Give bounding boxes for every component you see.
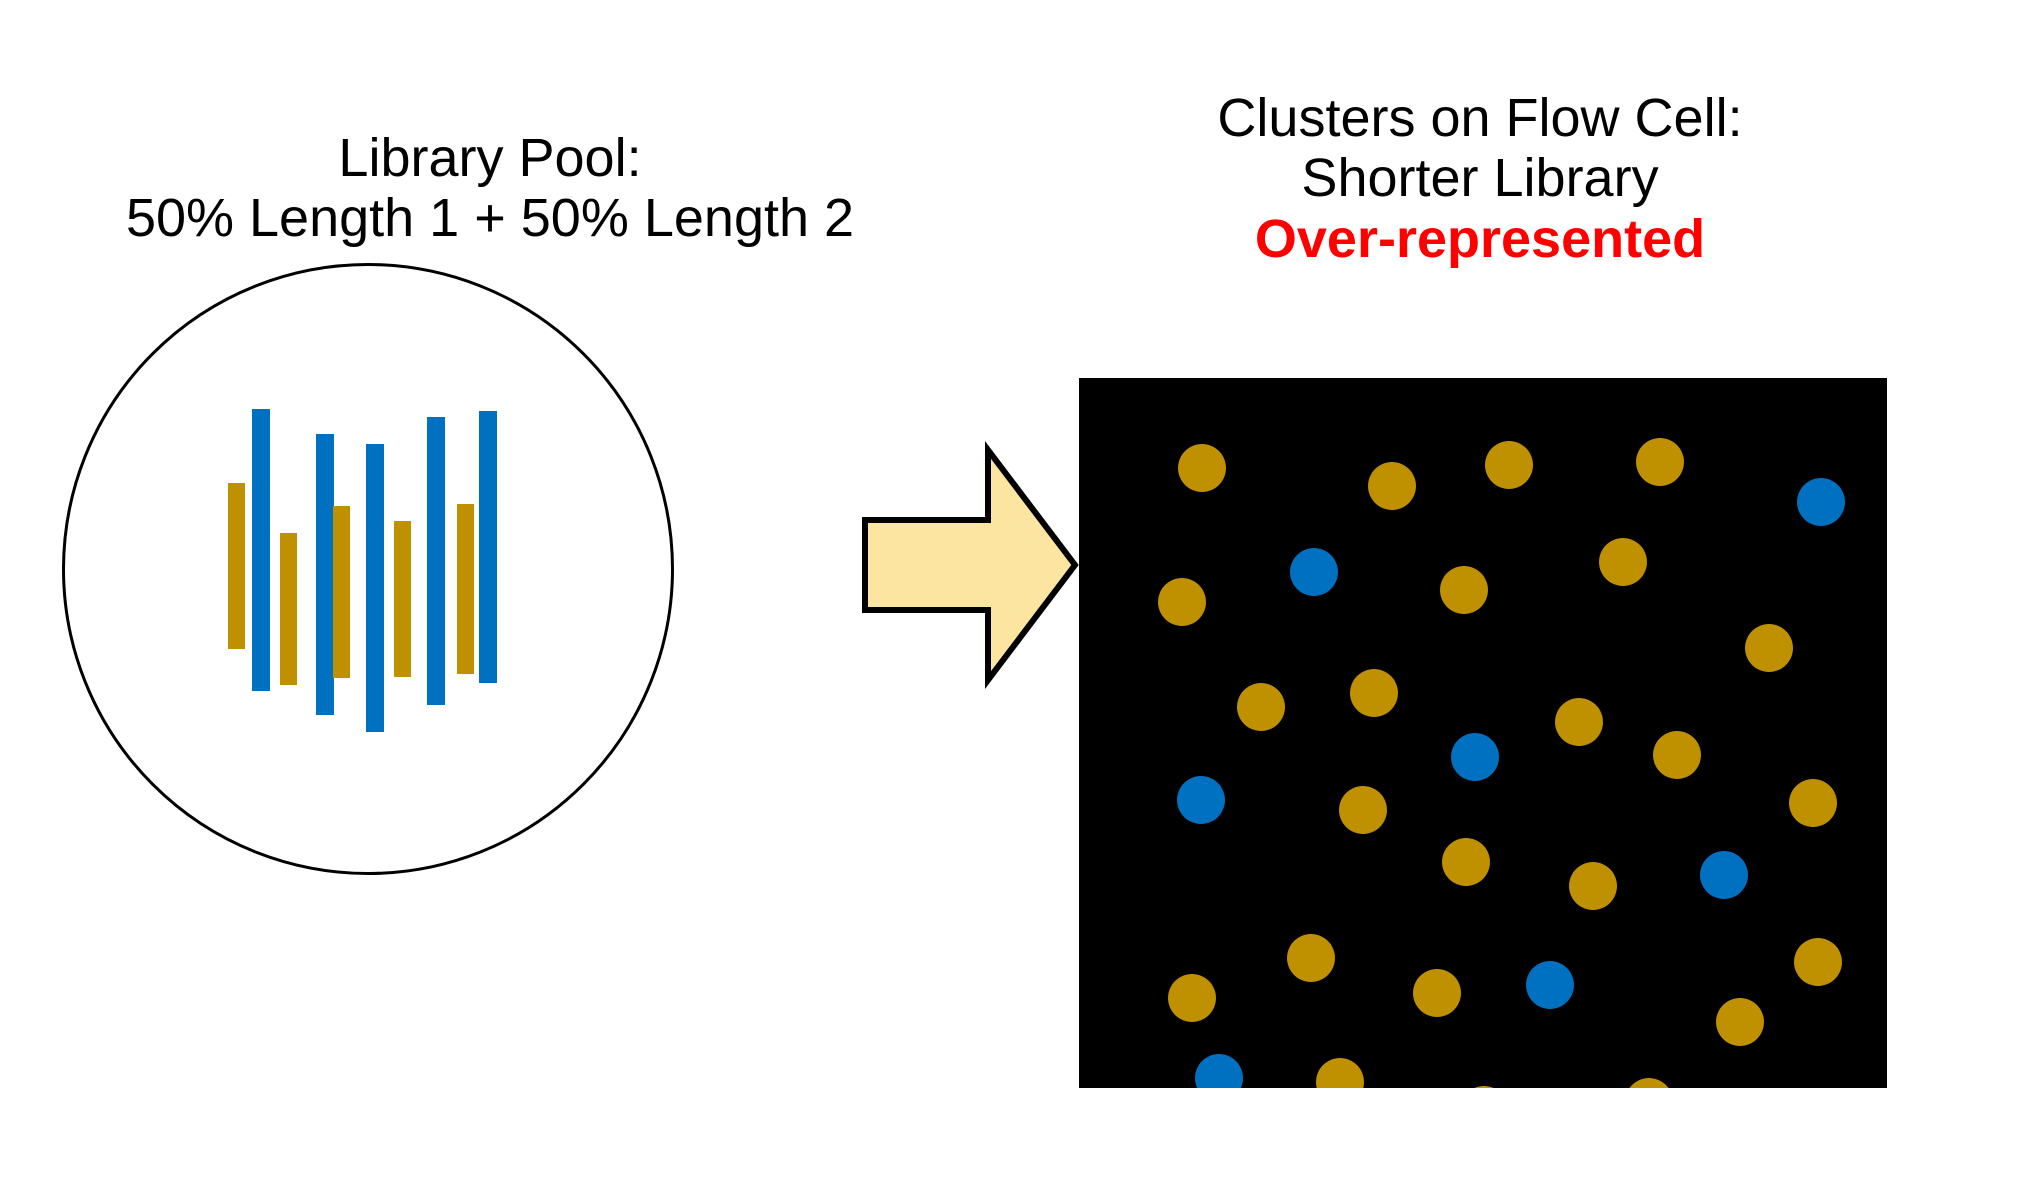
flow-cell-title-line-1: Clusters on Flow Cell:	[1030, 88, 1930, 148]
flow-cell-panel	[1079, 378, 1887, 1088]
cluster-dot-short	[1599, 538, 1647, 586]
library-pool-title: Library Pool: 50% Length 1 + 50% Length …	[0, 128, 980, 249]
cluster-dot-short	[1368, 462, 1416, 510]
cluster-dot-short	[1237, 683, 1285, 731]
cluster-dot-short	[1636, 438, 1684, 486]
flow-cell-title-line-2: Shorter Library	[1030, 148, 1930, 208]
flow-arrow-icon	[860, 440, 1080, 690]
cluster-dot-short	[1653, 731, 1701, 779]
cluster-dot-short	[1789, 779, 1837, 827]
cluster-dot-long	[1700, 851, 1748, 899]
cluster-dot-long	[1451, 733, 1499, 781]
cluster-dot-short	[1413, 969, 1461, 1017]
flow-cell-title-emphasis: Over-represented	[1030, 209, 1930, 269]
diagram-canvas: Library Pool: 50% Length 1 + 50% Length …	[0, 0, 2020, 1203]
cluster-dot-short	[1794, 938, 1842, 986]
cluster-dot-short	[1569, 862, 1617, 910]
cluster-dot-short	[1168, 974, 1216, 1022]
cluster-dot-short	[1555, 698, 1603, 746]
cluster-dot-long	[1290, 548, 1338, 596]
cluster-dot-short	[1339, 786, 1387, 834]
cluster-dot-short	[1460, 1086, 1508, 1088]
cluster-dot-long	[1526, 961, 1574, 1009]
flow-cell-title: Clusters on Flow Cell: Shorter Library O…	[1030, 88, 1930, 269]
cluster-dot-long	[1177, 776, 1225, 824]
cluster-dot-short	[1625, 1078, 1673, 1088]
cluster-dot-short	[1287, 934, 1335, 982]
cluster-dot-short	[1350, 669, 1398, 717]
cluster-dot-long	[1797, 478, 1845, 526]
cluster-dot-short	[1440, 566, 1488, 614]
library-pool-title-line-2: 50% Length 1 + 50% Length 2	[0, 188, 980, 248]
library-pool-title-line-1: Library Pool:	[0, 128, 980, 188]
cluster-dot-short	[1316, 1058, 1364, 1088]
cluster-dot-short	[1442, 838, 1490, 886]
cluster-dot-short	[1745, 624, 1793, 672]
cluster-dot-short	[1485, 441, 1533, 489]
cluster-dot-long	[1195, 1054, 1243, 1088]
cluster-dot-short	[1716, 998, 1764, 1046]
cluster-dot-short	[1178, 444, 1226, 492]
library-pool-circle	[62, 263, 674, 875]
cluster-dot-short	[1158, 578, 1206, 626]
